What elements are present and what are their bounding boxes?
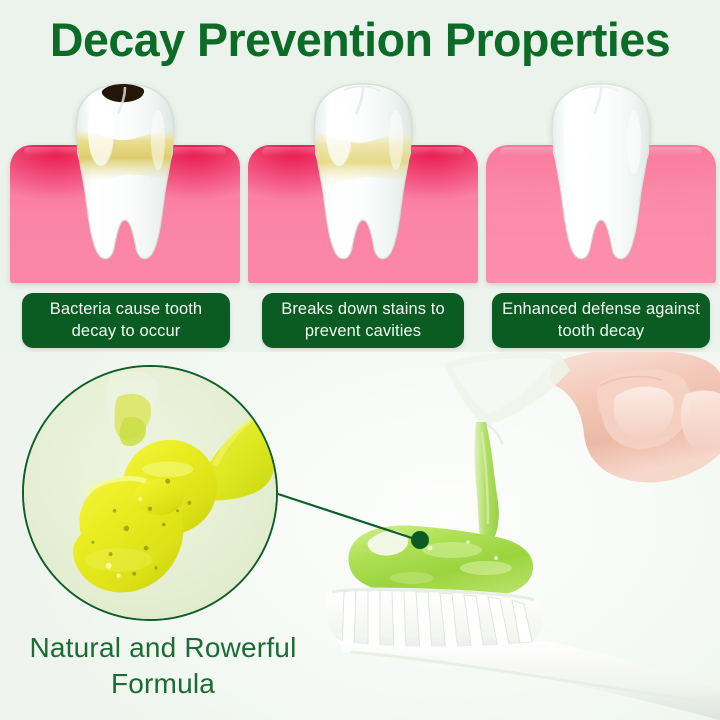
caption-chip-decay: Bacteria cause tooth decay to occur [22, 293, 230, 348]
caption-chip-defense: Enhanced defense against tooth decay [492, 293, 710, 348]
tube-nozzle [444, 352, 570, 444]
product-caption-line2: Formula [8, 666, 318, 702]
page-title: Decay Prevention Properties [4, 16, 717, 63]
caption-chip-stains: Breaks down stains to prevent cavities [262, 293, 464, 348]
tooth-illustration-stained [304, 80, 422, 280]
panel-healthy-tooth [486, 145, 716, 283]
gel-closeup-magnifier [22, 365, 278, 621]
panel-decayed-tooth [10, 145, 240, 283]
product-caption-line1: Natural and Rowerful [29, 632, 296, 663]
toothbrush-handle [336, 638, 720, 720]
hand-illustration [550, 352, 720, 482]
panel-stained-tooth [248, 145, 478, 283]
magnifier-content [24, 367, 276, 619]
caption-text: Breaks down stains to prevent cavities [270, 299, 456, 343]
tooth-illustration-healthy [542, 80, 660, 280]
tooth-illustration-decayed [66, 80, 184, 280]
product-caption: Natural and Rowerful Formula [8, 630, 318, 702]
caption-text: Enhanced defense against tooth decay [500, 299, 702, 343]
gel-stream [475, 422, 499, 538]
infographic-root: Decay Prevention Properties [0, 0, 720, 720]
caption-text: Bacteria cause tooth decay to occur [30, 299, 222, 343]
